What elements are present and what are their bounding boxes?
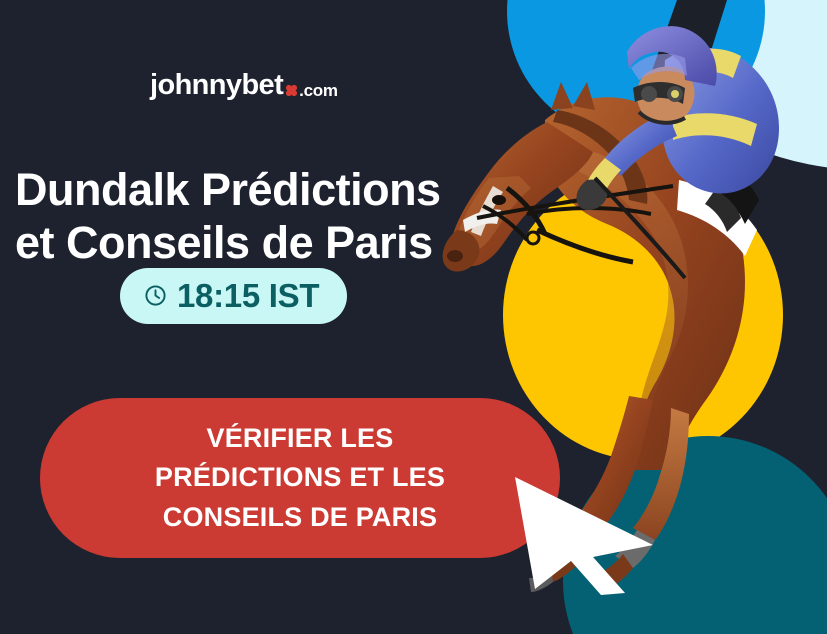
check-predictions-button[interactable]: VÉRIFIER LES PRÉDICTIONS ET LES CONSEILS… xyxy=(40,398,560,558)
page-title: Dundalk Prédictions et Conseils de Paris xyxy=(15,164,495,269)
cta-line-3: CONSEILS DE PARIS xyxy=(155,498,445,537)
background-shape-yellow xyxy=(503,170,783,460)
promo-banner: johnnybet .com Dundalk Prédictions et Co… xyxy=(0,0,827,634)
cta-line-2: PRÉDICTIONS ET LES xyxy=(155,458,445,497)
headline-line-1: Dundalk Prédictions xyxy=(15,164,441,215)
logo-wordmark: johnnybet xyxy=(150,71,283,100)
background-shape-teal xyxy=(563,436,827,634)
post-time-text: 18:15 IST xyxy=(177,279,319,312)
cta-line-1: VÉRIFIER LES xyxy=(155,419,445,458)
clock-icon xyxy=(144,284,167,307)
headline-line-2: et Conseils de Paris xyxy=(15,217,433,268)
brand-logo[interactable]: johnnybet .com xyxy=(150,66,338,104)
post-time-badge: 18:15 IST xyxy=(120,268,347,324)
logo-tld: .com xyxy=(299,82,337,99)
clover-icon xyxy=(285,84,298,97)
